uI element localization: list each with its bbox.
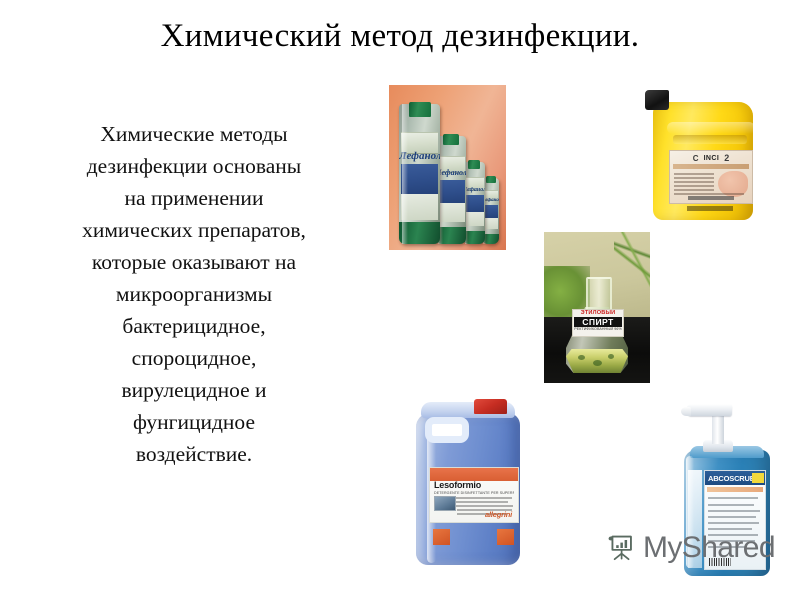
body-line: химических препаратов, <box>24 214 364 246</box>
photo-yellow-jerrycan: C INCI 2 <box>645 90 761 222</box>
jerrycan-shoulder <box>667 122 755 134</box>
label-text-line <box>708 522 759 524</box>
liquid-sediment <box>608 354 614 359</box>
jerrycan-body: C INCI 2 <box>653 102 753 220</box>
label-accent-square <box>497 529 514 545</box>
label-accent-bar <box>707 487 763 492</box>
jerrycan-handle <box>425 417 469 443</box>
dispenser-pump-head <box>686 404 732 416</box>
label-text-line <box>674 185 714 187</box>
body-line: фунгицидное <box>24 406 364 438</box>
label-text-line <box>674 189 714 191</box>
label-text-line <box>708 528 752 530</box>
flask-glass: ЭТИЛОВЫЙ СПИРТ РЕКТИФИКОВАННЫЙ 96% <box>566 277 628 373</box>
bottle-3: Лефанол <box>463 162 485 244</box>
body-line: воздействие. <box>24 438 364 470</box>
label-accent-chip <box>752 473 764 483</box>
brand-name: allegrini <box>485 510 512 519</box>
body-line: спороцидное, <box>24 342 364 374</box>
hazard-symbol-left: C <box>693 154 699 163</box>
body-line: на применении <box>24 182 364 214</box>
liquid-sediment <box>593 360 602 366</box>
liquid-sediment <box>578 355 585 360</box>
label-footer-bar <box>688 196 734 200</box>
body-line: вирулецидное и <box>24 374 364 406</box>
jerrycan-brand-mark <box>687 206 733 211</box>
slide-body-text: Химические методы дезинфекции основаны н… <box>24 118 364 470</box>
bottle-1: Лефанол <box>399 104 440 244</box>
label-text-line <box>708 510 760 512</box>
flipchart-bar-chart-icon <box>606 533 636 563</box>
bottle-cap <box>409 102 431 117</box>
label-text-line <box>674 173 714 175</box>
body-line: которые оказывают на <box>24 246 364 278</box>
label-accent-square <box>433 529 450 545</box>
photo-erlenmeyer-flask: ЭТИЛОВЫЙ СПИРТ РЕКТИФИКОВАННЫЙ 96% <box>544 232 650 383</box>
hazard-symbol-right: 2 <box>724 153 729 163</box>
product-name: Lesoformio <box>434 480 481 490</box>
body-line: дезинфекции основаны <box>24 150 364 182</box>
bottle-cap <box>443 134 459 145</box>
label-line-2: СПИРТ <box>574 317 622 327</box>
product-name: INCI <box>704 155 720 162</box>
bottle-cap <box>468 160 480 169</box>
label-text-line <box>708 497 758 499</box>
page-title: Химический метод дезинфекции. <box>0 18 800 55</box>
label-text-line <box>674 177 714 179</box>
product-subtitle: DETERGENTE DISINFETTANTE PER SUPERFICI D… <box>434 491 514 495</box>
label-illustration <box>434 496 456 511</box>
label-text-line <box>708 516 756 518</box>
label-text-line <box>708 504 754 506</box>
photo-blue-jerrycan: Lesoformio DETERGENTE DISINFETTANTE PER … <box>411 399 525 567</box>
watermark-text: MyShared <box>643 533 775 563</box>
bottle-cap <box>486 176 496 183</box>
label-header-bar: ABCOSCRUB <box>705 471 765 485</box>
jerrycan-label: Lesoformio DETERGENTE DISINFETTANTE PER … <box>429 467 519 523</box>
jerrycan-grip <box>673 135 747 144</box>
label-header-bar <box>673 164 749 169</box>
photo-green-capped-bottles: Лефанол Лефанол Лефанол Ле <box>389 85 506 250</box>
label-text-line <box>674 193 744 195</box>
dispenser-stem <box>712 414 724 444</box>
bottle-highlight <box>402 104 408 244</box>
flask-label: ЭТИЛОВЫЙ СПИРТ РЕКТИФИКОВАННЫЙ 96% <box>572 309 624 337</box>
watermark: MyShared <box>606 533 775 563</box>
product-name: ABCOSCRUB <box>708 474 755 483</box>
flask-liquid <box>566 349 628 373</box>
bottle-2: Лефанол <box>436 136 466 244</box>
body-line: Химические методы <box>24 118 364 150</box>
jerrycan-cap <box>474 399 507 414</box>
body-line: бактерицидное, <box>24 310 364 342</box>
label-line-1: ЭТИЛОВЫЙ <box>573 310 623 317</box>
body-line: микроорганизмы <box>24 278 364 310</box>
jerrycan-cap <box>645 90 669 110</box>
jerrycan-label: C INCI 2 <box>669 150 753 204</box>
slide-canvas: Химический метод дезинфекции. Химические… <box>0 0 800 600</box>
label-line-3: РЕКТИФИКОВАННЫЙ 96% <box>573 327 623 331</box>
label-text-line <box>674 181 714 183</box>
